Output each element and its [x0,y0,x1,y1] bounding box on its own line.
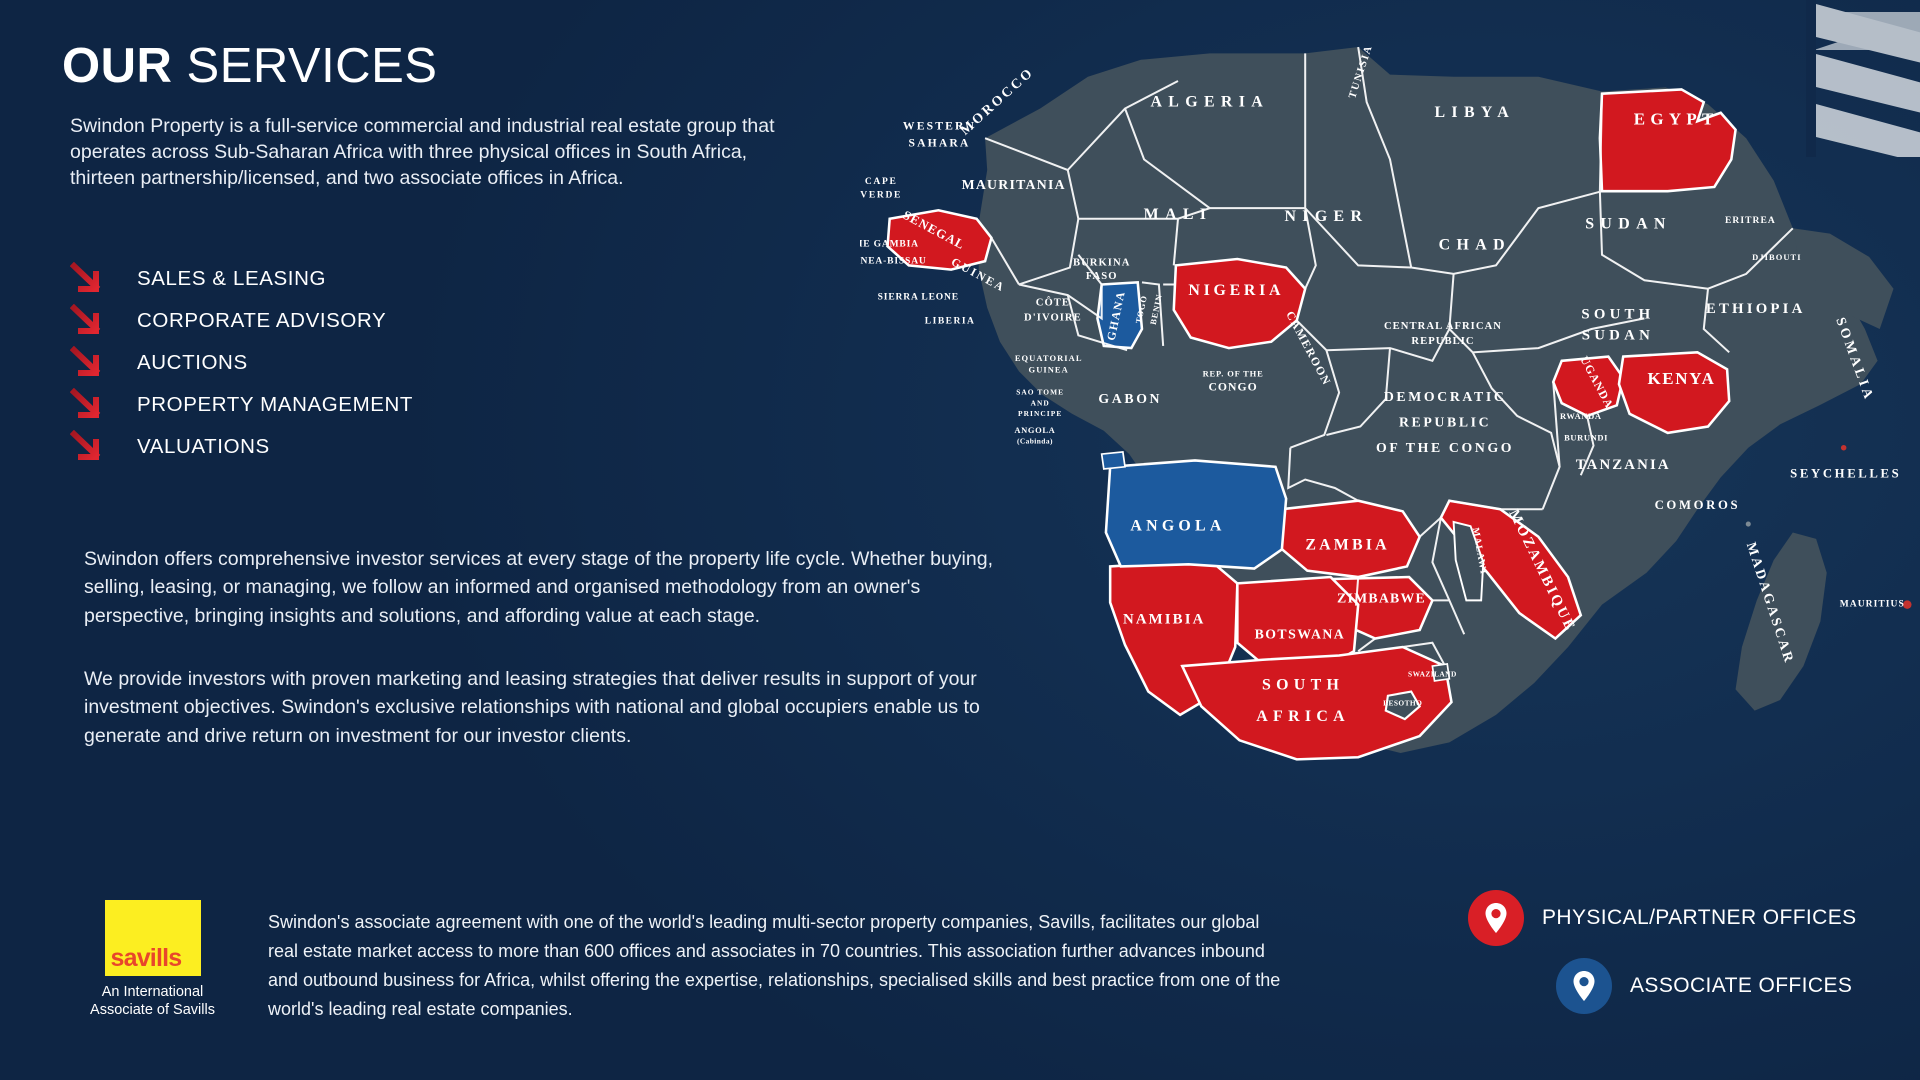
map-label: FASO [1086,271,1118,282]
map-label: DJIBOUTI [1752,252,1801,262]
map-label: LIBYA [1434,104,1515,121]
map-label: ETHIOPIA [1706,301,1806,317]
service-item-auctions[interactable]: AUCTIONS [70,342,413,384]
service-label: AUCTIONS [137,351,248,375]
map-label: BOTSWANA [1255,627,1346,642]
map-label: D'IVOIRE [1024,313,1082,324]
map-label: EQUATORIAL [1015,353,1083,363]
map-label: LIBERIA [925,317,976,327]
arrow-down-right-icon [70,304,110,338]
map-label: BURKINA [1073,257,1130,268]
map-label: AND [1031,398,1050,407]
arrow-down-right-icon [70,430,110,464]
service-item-valuations[interactable]: VALUATIONS [70,426,413,468]
legend-item-associate[interactable]: ASSOCIATE OFFICES [1468,958,1888,1014]
map-label: OF THE CONGO [1376,440,1514,455]
map-label: EGYPT [1634,109,1719,128]
map-label: NAMIBIA [1123,612,1205,628]
map-label: MALI [1144,206,1213,223]
map-label: SWAZILAND [1408,670,1457,679]
map-label: (Cabinda) [1017,436,1053,445]
angola-cabinda [1102,452,1125,469]
map-label: COMOROS [1655,498,1741,512]
savills-caption-line-1: An International [80,983,225,1001]
savills-wordmark: savills [111,944,182,973]
map-pin-icon [1468,890,1524,946]
service-label: VALUATIONS [137,435,270,459]
map-label: DEMOCRATIC [1384,389,1507,404]
map-label: GUINEA-BISSAU [860,256,927,266]
legend-item-physical-partner[interactable]: PHYSICAL/PARTNER OFFICES [1468,890,1888,946]
map-label: CAPE [865,177,898,187]
map-label: SEYCHELLES [1790,466,1901,480]
map-label: CONGO [1208,380,1257,393]
map-label: SAO TOME [1016,388,1064,397]
map-label: SOUTH [1262,676,1344,693]
map-label: ERITREA [1725,216,1776,226]
map-label: CENTRAL AFRICAN [1384,321,1502,332]
map-label: SOUTH [1581,306,1654,322]
map-label: RWANDA [1560,411,1602,421]
savills-caption-line-2: Associate of Savills [80,1001,225,1019]
service-item-corporate-advisory[interactable]: CORPORATE ADVISORY [70,300,413,342]
map-label: BURUNDI [1564,432,1608,442]
map-label: VERDE [860,191,902,201]
map-pin-icon [1556,958,1612,1014]
arrow-down-right-icon [70,262,110,296]
country-egypt [1600,89,1736,191]
map-label: MAURITIUS [1840,600,1905,610]
savills-logo-mark: savills [105,900,201,976]
legend-label: ASSOCIATE OFFICES [1630,974,1852,998]
service-label: CORPORATE ADVISORY [137,309,386,333]
comoros-dot [1746,521,1751,526]
arrow-down-right-icon [70,346,110,380]
map-label: MAURITANIA [962,177,1066,192]
map-label: THE GAMBIA [860,239,919,249]
map-label: KENYA [1647,369,1715,388]
map-label: GABON [1098,391,1162,406]
map-label: REP. OF THE [1203,369,1264,379]
page-title-light: SERVICES [187,39,438,93]
map-label: LESOTHO [1383,698,1422,707]
legend-label: PHYSICAL/PARTNER OFFICES [1542,906,1857,930]
map-label: GUINEA [1029,364,1069,374]
map-label: NIGERIA [1188,282,1284,299]
map-label: ALGERIA [1150,93,1269,110]
page-title-bold: OUR [62,39,172,93]
service-item-sales-leasing[interactable]: SALES & LEASING [70,258,413,300]
service-label: SALES & LEASING [137,267,326,291]
map-label: SAHARA [909,137,971,150]
map-label: SIERRA LEONE [878,292,959,302]
map-label: REPUBLIC [1411,336,1474,347]
map-label: ZAMBIA [1305,536,1389,553]
map-label: REPUBLIC [1399,415,1491,430]
map-label: TANZANIA [1576,457,1671,473]
map-label: CHAD [1439,236,1511,253]
intro-paragraph: Swindon Property is a full-service comme… [70,114,800,192]
country-angola [1106,460,1286,568]
page-title: OUR SERVICES [62,38,437,94]
services-list: SALES & LEASING CORPORATE ADVISORY AUCTI… [70,258,413,468]
map-label: SUDAN [1585,215,1672,232]
slide-root: OUR SERVICES Swindon Property is a full-… [0,0,1920,1080]
map-label: AFRICA [1256,708,1350,725]
africa-map: MOROCCOALGERIATUNISIALIBYAEGYPTWESTERNSA… [860,10,1920,860]
arrow-down-right-icon [70,388,110,422]
service-label: PROPERTY MANAGEMENT [137,393,413,417]
map-label: ANGOLA [1130,517,1225,534]
map-label: WESTERN [903,120,976,133]
savills-logo-block: savills An International Associate of Sa… [80,900,225,1020]
map-legend: PHYSICAL/PARTNER OFFICES ASSOCIATE OFFIC… [1468,890,1888,1026]
map-label: CÔTE [1036,296,1070,309]
savills-caption: An International Associate of Savills [80,983,225,1020]
service-item-property-management[interactable]: PROPERTY MANAGEMENT [70,384,413,426]
seychelles-dot [1841,445,1847,451]
map-label: NIGER [1284,208,1368,225]
map-label: PRINCIPE [1018,409,1062,418]
map-label: ZIMBABWE [1337,590,1426,605]
map-label: ANGOLA [1014,425,1055,435]
map-label: SUDAN [1582,328,1654,344]
footer-note: Swindon's associate agreement with one o… [268,908,1283,1025]
